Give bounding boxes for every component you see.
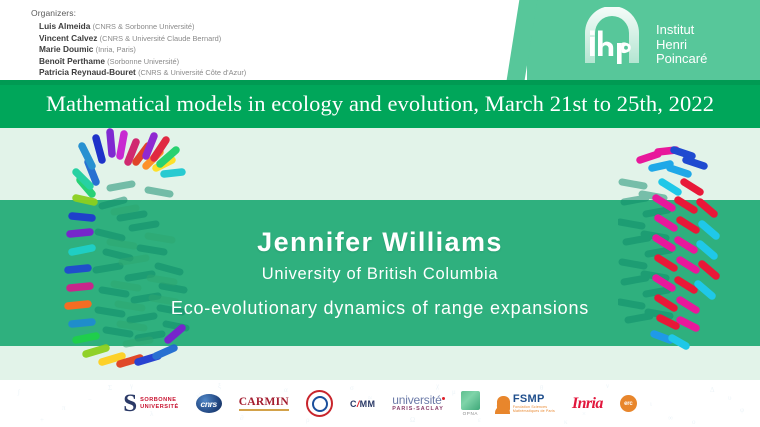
opna-square-icon (461, 391, 480, 410)
paris-saclay-wordmark: université PARIS-SACLAY (392, 395, 444, 412)
sorbonne-mark-icon: S (123, 391, 137, 416)
sponsor-logo-opna[interactable]: OPNA (461, 389, 480, 419)
cimm-wordmark: C/MM (350, 399, 375, 409)
organizer-row: Vincent Calvez (CNRS & Université Claude… (31, 33, 246, 45)
sponsor-logo-erc[interactable]: erc (620, 389, 637, 419)
cirm-inner-ring-icon (312, 396, 328, 412)
organizer-name: Benoît Perthame (39, 56, 105, 66)
cimm-pre: C (350, 399, 357, 409)
sorbonne-line-1: SORBONNE (140, 397, 179, 404)
organizer-row: Luis Almeida (CNRS & Sorbonne Université… (31, 21, 246, 33)
speaker-name: Jennifer Williams (257, 227, 503, 258)
poster-body: Jennifer Williams University of British … (0, 128, 760, 380)
organizer-affiliation: (CNRS & Sorbonne Université) (93, 22, 195, 31)
sorbonne-wordmark: SORBONNE UNIVERSITÉ (140, 397, 179, 411)
ihp-line-3: Poincaré (656, 52, 707, 67)
carmin-wordmark-wrap: CARMIN (239, 396, 289, 411)
sponsor-logo-carmin[interactable]: CARMIN (239, 389, 289, 419)
fsmp-head-icon (497, 396, 510, 412)
ihp-line-2: Henri (656, 38, 707, 53)
organizer-affiliation: (Sorbonne Université) (107, 57, 179, 66)
cirm-ring-icon (306, 390, 333, 417)
title-banner: Mathematical models in ecology and evolu… (0, 80, 760, 128)
organizer-name: Patricia Reynaud-Bouret (39, 67, 136, 77)
organizer-name: Marie Doumic (39, 44, 93, 54)
organizer-affiliation: (CNRS & Université Côte d'Azur) (138, 68, 246, 77)
carmin-wordmark: CARMIN (239, 396, 289, 408)
sponsor-footer: ∫πΣ λ√∂ αβ≈ Ωμ∇ θ×÷ ∞Δφ +−γ ηξψ ρστ χεζ … (0, 380, 760, 427)
sponsor-logo-paris-saclay[interactable]: université PARIS-SACLAY (392, 389, 444, 419)
paris-saclay-line-2: PARIS-SACLAY (392, 406, 444, 412)
organizers-list: Organizers: Luis Almeida (CNRS & Sorbonn… (31, 8, 246, 79)
ihp-line-1: Institut (656, 23, 707, 38)
organizer-name: Vincent Calvez (39, 33, 97, 43)
ihp-logo: Institut Henri Poincaré (550, 7, 740, 73)
sponsor-logo-cimm[interactable]: C/MM (350, 389, 375, 419)
fsmp-wordmark-wrap: FSMP Fondation Sciences Mathématiques de… (513, 394, 555, 413)
fsmp-wordmark: FSMP (513, 394, 555, 405)
sponsor-logo-cirm[interactable] (306, 389, 333, 419)
speaker-affiliation: University of British Columbia (262, 265, 498, 284)
poster-header: Organizers: Luis Almeida (CNRS & Sorbonn… (0, 0, 760, 80)
sponsor-logo-fsmp[interactable]: FSMP Fondation Sciences Mathématiques de… (497, 389, 555, 419)
organizer-row: Benoît Perthame (Sorbonne Université) (31, 56, 246, 68)
organizer-name: Luis Almeida (39, 21, 90, 31)
organizer-affiliation: (Inria, Paris) (96, 45, 136, 54)
paris-saclay-line-1: université (392, 395, 444, 406)
sponsor-logos: S SORBONNE UNIVERSITÉ cnrs CARMIN (0, 380, 760, 427)
sorbonne-line-2: UNIVERSITÉ (140, 404, 179, 411)
speaker-info: Jennifer Williams University of British … (0, 200, 760, 346)
conference-poster: Organizers: Luis Almeida (CNRS & Sorbonn… (0, 0, 760, 427)
cnrs-wordmark: cnrs (196, 394, 222, 413)
cimm-post: MM (360, 399, 376, 409)
inria-wordmark: Inria (572, 395, 603, 413)
conference-title: Mathematical models in ecology and evolu… (0, 80, 760, 128)
sponsor-logo-inria[interactable]: Inria (572, 389, 603, 419)
organizers-label: Organizers: (31, 8, 246, 18)
ihp-arch-icon (575, 7, 649, 69)
opna-wordmark-wrap: OPNA (461, 391, 480, 416)
erc-wordmark: erc (620, 395, 637, 412)
carmin-underline (239, 409, 289, 411)
sponsor-logo-cnrs[interactable]: cnrs (196, 389, 222, 419)
paris-saclay-dot-icon (442, 397, 445, 400)
fsmp-subline-2: Mathématiques de Paris (513, 409, 555, 413)
opna-wordmark: OPNA (461, 411, 480, 416)
organizer-affiliation: (CNRS & Université Claude Bernard) (100, 34, 222, 43)
talk-title: Eco-evolutionary dynamics of range expan… (171, 298, 589, 319)
sponsor-logo-sorbonne[interactable]: S SORBONNE UNIVERSITÉ (123, 389, 178, 419)
ihp-logo-text: Institut Henri Poincaré (656, 23, 707, 67)
organizer-row: Marie Doumic (Inria, Paris) (31, 44, 246, 56)
organizer-row: Patricia Reynaud-Bouret (CNRS & Universi… (31, 67, 246, 79)
